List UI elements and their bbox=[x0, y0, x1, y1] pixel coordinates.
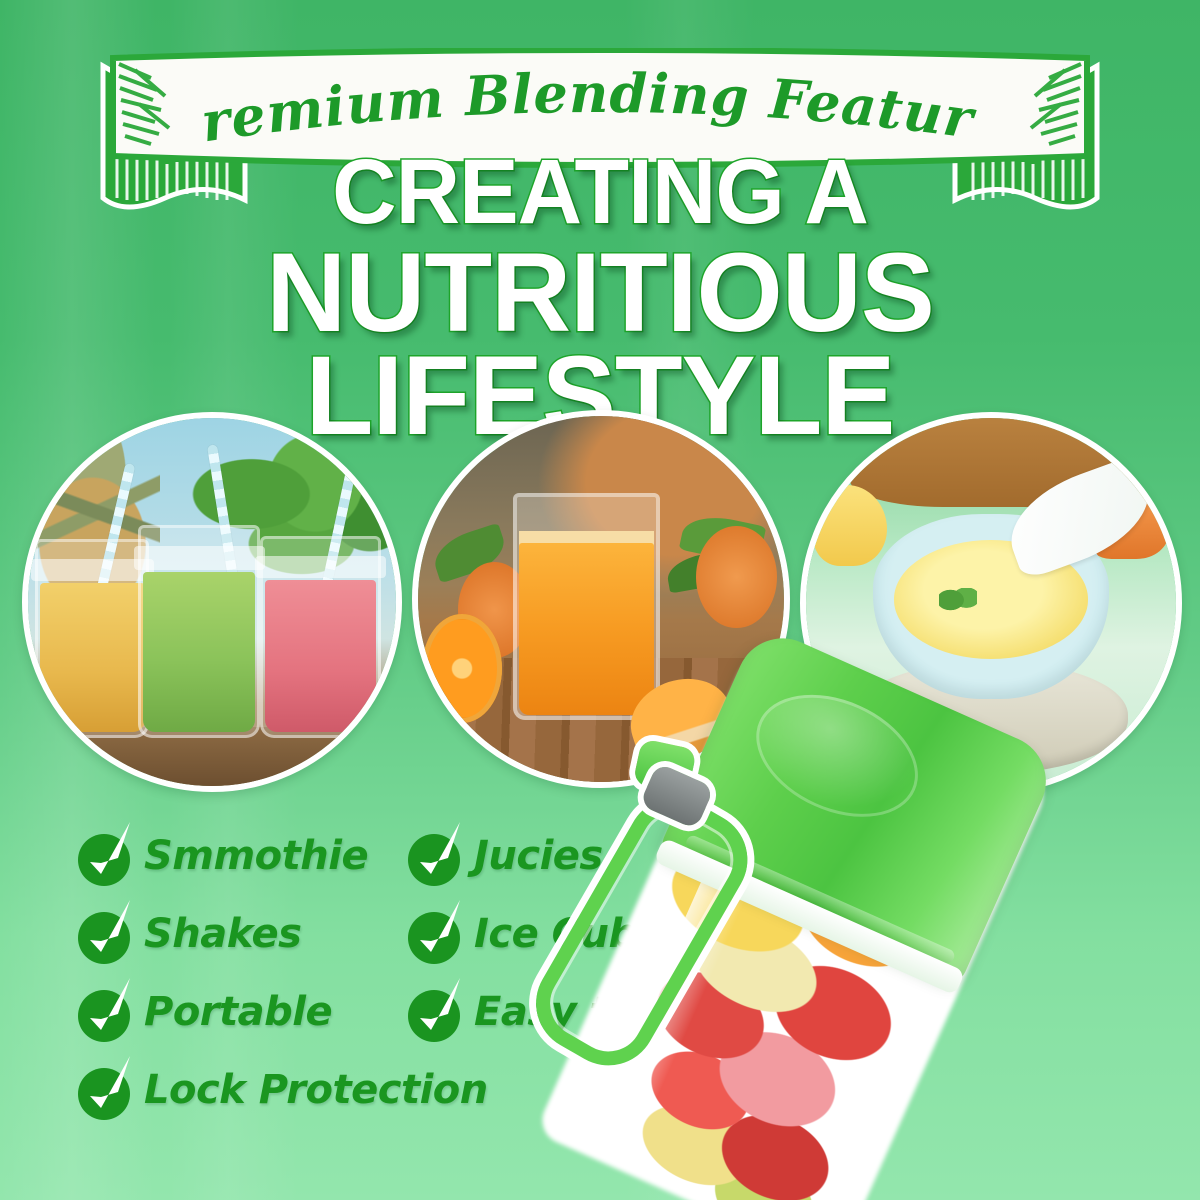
jar-berry bbox=[260, 536, 381, 738]
smoothie-jars-image bbox=[28, 418, 396, 786]
feature-label: Shakes bbox=[144, 911, 301, 957]
check-circle-icon bbox=[78, 1064, 130, 1116]
product-image-portable-blender bbox=[676, 700, 1200, 1200]
orange-half-slice bbox=[422, 614, 503, 724]
feature-item-lock-protection[interactable]: Lock Protection bbox=[78, 1064, 408, 1116]
jar-green bbox=[138, 525, 259, 738]
feature-label: Smmothie bbox=[144, 833, 368, 879]
orange-fruit bbox=[696, 526, 777, 628]
check-circle-icon bbox=[78, 986, 130, 1038]
product-feature-poster: Premium Blending Features CREATING A NUT… bbox=[0, 0, 1200, 1200]
check-circle-icon bbox=[78, 830, 130, 882]
mint-leaf-icon bbox=[939, 588, 977, 612]
feature-item-shakes[interactable]: Shakes bbox=[78, 908, 408, 960]
check-circle-icon bbox=[78, 908, 130, 960]
check-circle-icon bbox=[408, 986, 460, 1038]
feature-label: Lock Protection bbox=[144, 1067, 488, 1113]
juice-glass bbox=[513, 493, 659, 720]
photo-circle-smoothie-jars bbox=[22, 412, 402, 792]
page-title: CREATING A NUTRITIOUS LIFESTYLE bbox=[0, 150, 1200, 447]
headline-line-1: CREATING A bbox=[18, 150, 1182, 235]
ribbon-title: Premium Blending Features bbox=[72, 0, 980, 154]
check-circle-icon bbox=[408, 830, 460, 882]
feature-item-smoothie[interactable]: Smmothie bbox=[78, 830, 408, 882]
feature-item-portable[interactable]: Portable bbox=[78, 986, 408, 1038]
check-circle-icon bbox=[408, 908, 460, 960]
jar-mango bbox=[35, 539, 149, 738]
feature-label: Portable bbox=[144, 989, 332, 1035]
